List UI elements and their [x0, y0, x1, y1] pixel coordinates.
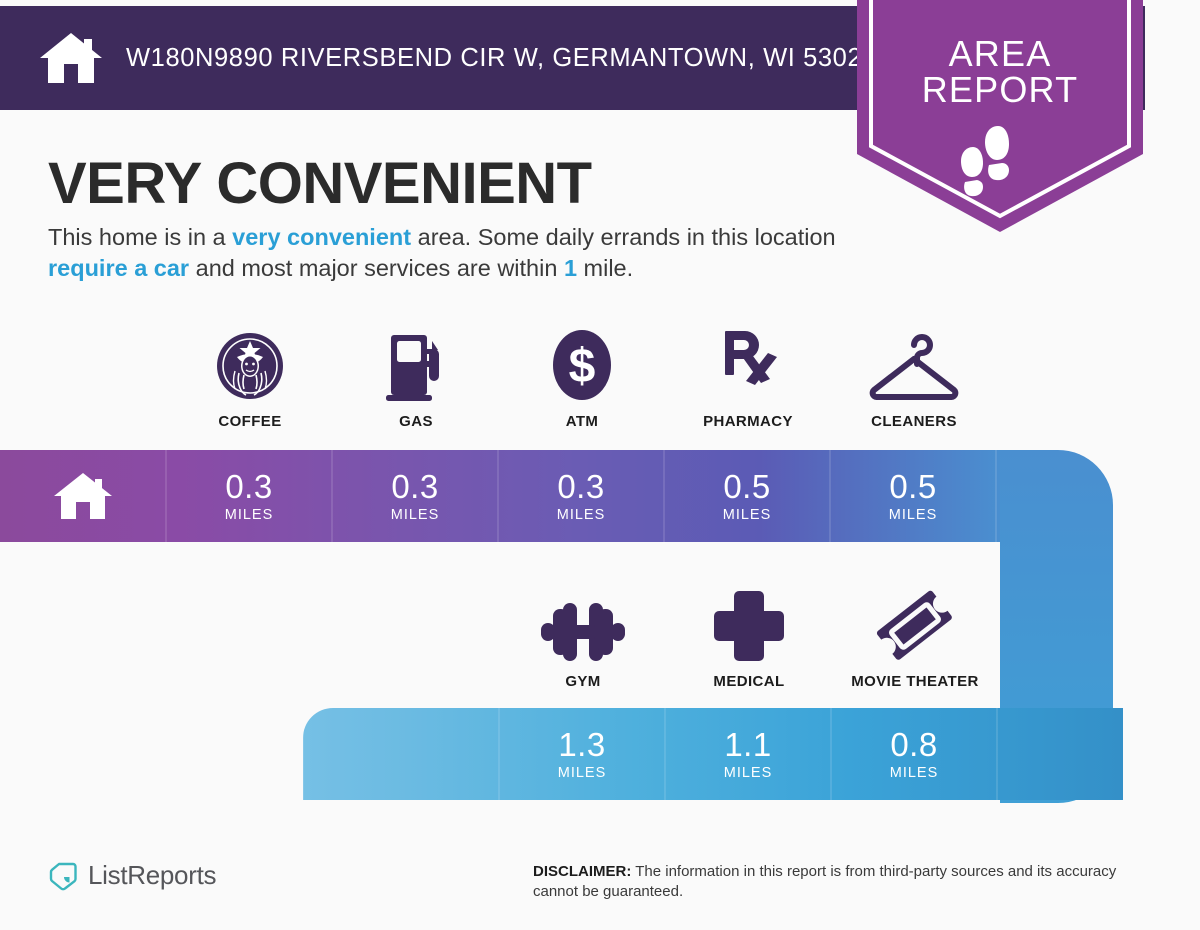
distance-ribbon: 0.3 MILES 0.3 MILES 0.3 MILES 0.5 MILES …	[0, 443, 1200, 930]
category-gas: GAS	[333, 325, 499, 430]
page-title: VERY CONVENIENT	[48, 150, 592, 217]
distance-cell-gym: 1.3 MILES	[499, 708, 665, 800]
summary-part-4: mile.	[577, 255, 633, 281]
distance-unit: MILES	[558, 765, 607, 781]
distance-cell-medical: 1.1 MILES	[665, 708, 831, 800]
home-icon	[38, 31, 104, 85]
summary-part-2: area. Some daily errands in this locatio…	[411, 224, 836, 250]
summary-part-3: and most major services are within	[189, 255, 564, 281]
distance-unit: MILES	[225, 507, 274, 523]
distance-unit: MILES	[391, 507, 440, 523]
category-label: GAS	[399, 413, 433, 430]
category-coffee: COFFEE	[167, 325, 333, 430]
distance-value: 1.1	[724, 728, 771, 761]
area-report-banner: AREA REPORT	[857, 0, 1143, 232]
distance-value: 0.8	[890, 728, 937, 761]
distance-row-2: 1.3 MILES 1.1 MILES 0.8 MILES	[333, 708, 1000, 800]
distance-value: 0.3	[391, 470, 438, 503]
category-label: CLEANERS	[871, 413, 957, 430]
category-cleaners: CLEANERS	[831, 325, 997, 430]
dollar-atm-icon: $	[548, 325, 616, 403]
disclaimer-label: DISCLAIMER:	[533, 863, 631, 880]
category-label: COFFEE	[218, 413, 281, 430]
logo-text: ListReports	[88, 860, 216, 891]
summary-highlight-1: very convenient	[232, 224, 411, 250]
summary-part-1: This home is in a	[48, 224, 232, 250]
distance-unit: MILES	[724, 765, 773, 781]
distance-value: 0.5	[723, 470, 770, 503]
distance-cell-empty	[333, 708, 499, 800]
disclaimer: DISCLAIMER: The information in this repo…	[533, 862, 1153, 902]
distance-unit: MILES	[890, 765, 939, 781]
area-report-infographic: W180N9890 RIVERSBEND CIR W, GERMANTOWN, …	[0, 0, 1200, 930]
ribbon-home-cell	[0, 450, 166, 542]
listreports-logo: ListReports	[48, 860, 216, 891]
category-atm: $ ATM	[499, 325, 665, 430]
distance-cell-movie-theater: 0.8 MILES	[831, 708, 997, 800]
distance-value: 0.3	[557, 470, 604, 503]
distance-unit: MILES	[723, 507, 772, 523]
category-label: ATM	[566, 413, 599, 430]
home-icon	[52, 471, 114, 521]
summary-highlight-3: 1	[564, 255, 577, 281]
distance-cell-coffee: 0.3 MILES	[166, 450, 332, 542]
gas-pump-icon	[383, 325, 449, 403]
distance-cell-cleaners: 0.5 MILES	[830, 450, 996, 542]
property-address: W180N9890 RIVERSBEND CIR W, GERMANTOWN, …	[126, 44, 877, 73]
category-icons-row-1: COFFEE GAS $ ATM	[167, 325, 997, 430]
listreports-house-tag-icon	[48, 861, 78, 891]
distance-unit: MILES	[889, 507, 938, 523]
distance-value: 1.3	[558, 728, 605, 761]
distance-row-1: 0.3 MILES 0.3 MILES 0.3 MILES 0.5 MILES …	[0, 450, 1000, 542]
hanger-cleaners-icon	[866, 325, 962, 403]
starbucks-coffee-icon	[213, 325, 287, 403]
distance-cell-pharmacy: 0.5 MILES	[664, 450, 830, 542]
svg-text:$: $	[569, 340, 596, 393]
distance-cell-atm: 0.3 MILES	[498, 450, 664, 542]
distance-unit: MILES	[557, 507, 606, 523]
category-label: PHARMACY	[703, 413, 793, 430]
rx-pharmacy-icon	[715, 325, 781, 403]
distance-value: 0.5	[889, 470, 936, 503]
distance-value: 0.3	[225, 470, 272, 503]
distance-cell-gas: 0.3 MILES	[332, 450, 498, 542]
category-pharmacy: PHARMACY	[665, 325, 831, 430]
summary-highlight-2: require a car	[48, 255, 189, 281]
summary-text: This home is in a very convenient area. …	[48, 222, 858, 284]
